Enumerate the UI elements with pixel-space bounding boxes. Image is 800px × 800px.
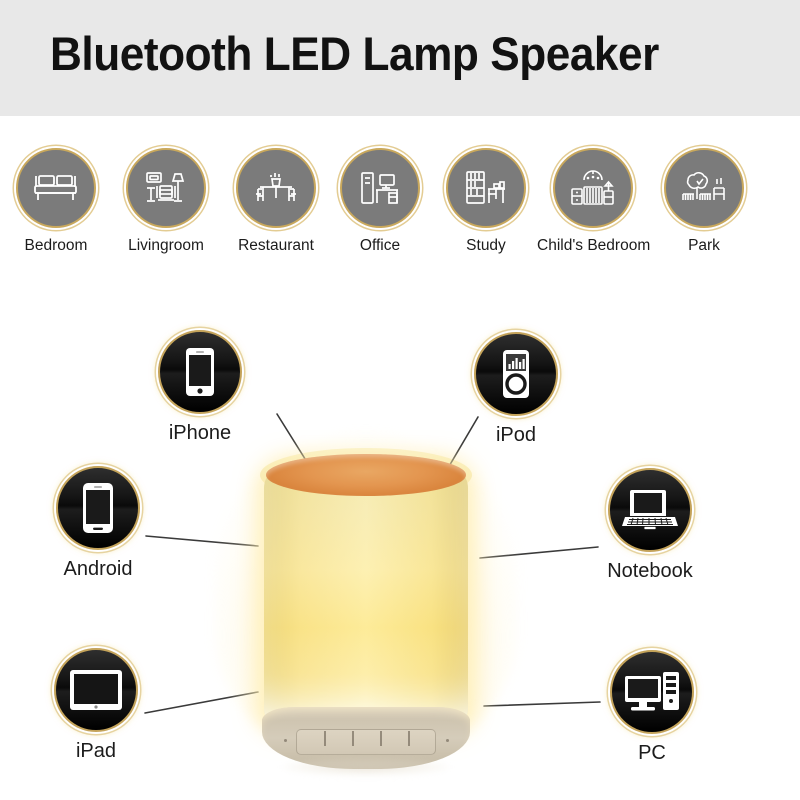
tablet-icon	[69, 669, 123, 711]
laptop-icon	[622, 488, 678, 532]
scene-circle	[340, 148, 420, 228]
bed-icon	[33, 171, 79, 205]
device-item-notebook[interactable]: Notebook	[580, 468, 720, 583]
device-item-pc[interactable]: PC	[582, 650, 722, 765]
scene-item-bedroom[interactable]: Bedroom	[0, 148, 112, 255]
device-circle	[474, 332, 558, 416]
office-desk-icon	[359, 169, 401, 207]
device-circle	[54, 648, 138, 732]
button-divider	[324, 731, 326, 746]
scene-circle	[553, 148, 633, 228]
iphone-icon	[184, 347, 216, 397]
scene-label: Bedroom	[0, 237, 112, 255]
bookshelf-desk-icon	[464, 169, 508, 207]
scene-item-restaurant[interactable]: Restaurant	[220, 148, 332, 255]
device-label: Android	[28, 558, 168, 581]
scene-item-livingroom[interactable]: Livingroom	[110, 148, 222, 255]
scene-circle	[446, 148, 526, 228]
base-indicator-dot-left	[284, 739, 287, 742]
scene-label: Livingroom	[110, 237, 222, 255]
lamp-control-buttons[interactable]	[296, 729, 436, 755]
scene-label: Office	[324, 237, 436, 255]
scene-label: Restaurant	[220, 237, 332, 255]
device-label: iPod	[446, 424, 586, 447]
scene-icon-row: Bedroom Livingroom	[0, 148, 800, 278]
device-circle	[608, 468, 692, 552]
android-phone-icon	[81, 482, 115, 534]
device-item-ipod[interactable]: iPod	[446, 332, 586, 447]
scene-circle	[126, 148, 206, 228]
device-label: iPhone	[130, 422, 270, 445]
scene-item-office[interactable]: Office	[324, 148, 436, 255]
crib-icon	[570, 169, 616, 207]
ipod-icon	[500, 349, 532, 399]
scene-item-park[interactable]: Park	[648, 148, 760, 255]
page-title: Bluetooth LED Lamp Speaker	[50, 26, 659, 81]
device-item-android[interactable]: Android	[28, 466, 168, 581]
device-label: Notebook	[580, 560, 720, 583]
dining-table-icon	[254, 170, 298, 206]
lamp-shadow	[282, 758, 450, 776]
scene-item-study[interactable]: Study	[430, 148, 542, 255]
scene-label: Study	[430, 237, 542, 255]
device-label: iPad	[26, 740, 166, 763]
lamp-top-opening	[266, 454, 466, 496]
base-indicator-dot-right	[446, 739, 449, 742]
button-divider	[408, 731, 410, 746]
tree-bench-icon	[681, 170, 727, 206]
scene-label: Child's Bedroom	[537, 237, 649, 255]
device-label: PC	[582, 742, 722, 765]
device-circle	[158, 330, 242, 414]
led-lamp-speaker	[248, 452, 484, 782]
lamp-body	[264, 464, 468, 728]
scene-circle	[236, 148, 316, 228]
device-item-iphone[interactable]: iPhone	[130, 330, 270, 445]
scene-item-childs-bedroom[interactable]: Child's Bedroom	[537, 148, 649, 255]
sofa-lamp-icon	[144, 170, 188, 206]
scene-circle	[664, 148, 744, 228]
device-item-ipad[interactable]: iPad	[26, 648, 166, 763]
button-divider	[380, 731, 382, 746]
scene-circle	[16, 148, 96, 228]
device-circle	[56, 466, 140, 550]
scene-label: Park	[648, 237, 760, 255]
button-divider	[352, 731, 354, 746]
desktop-pc-icon	[624, 670, 680, 714]
device-circle	[610, 650, 694, 734]
